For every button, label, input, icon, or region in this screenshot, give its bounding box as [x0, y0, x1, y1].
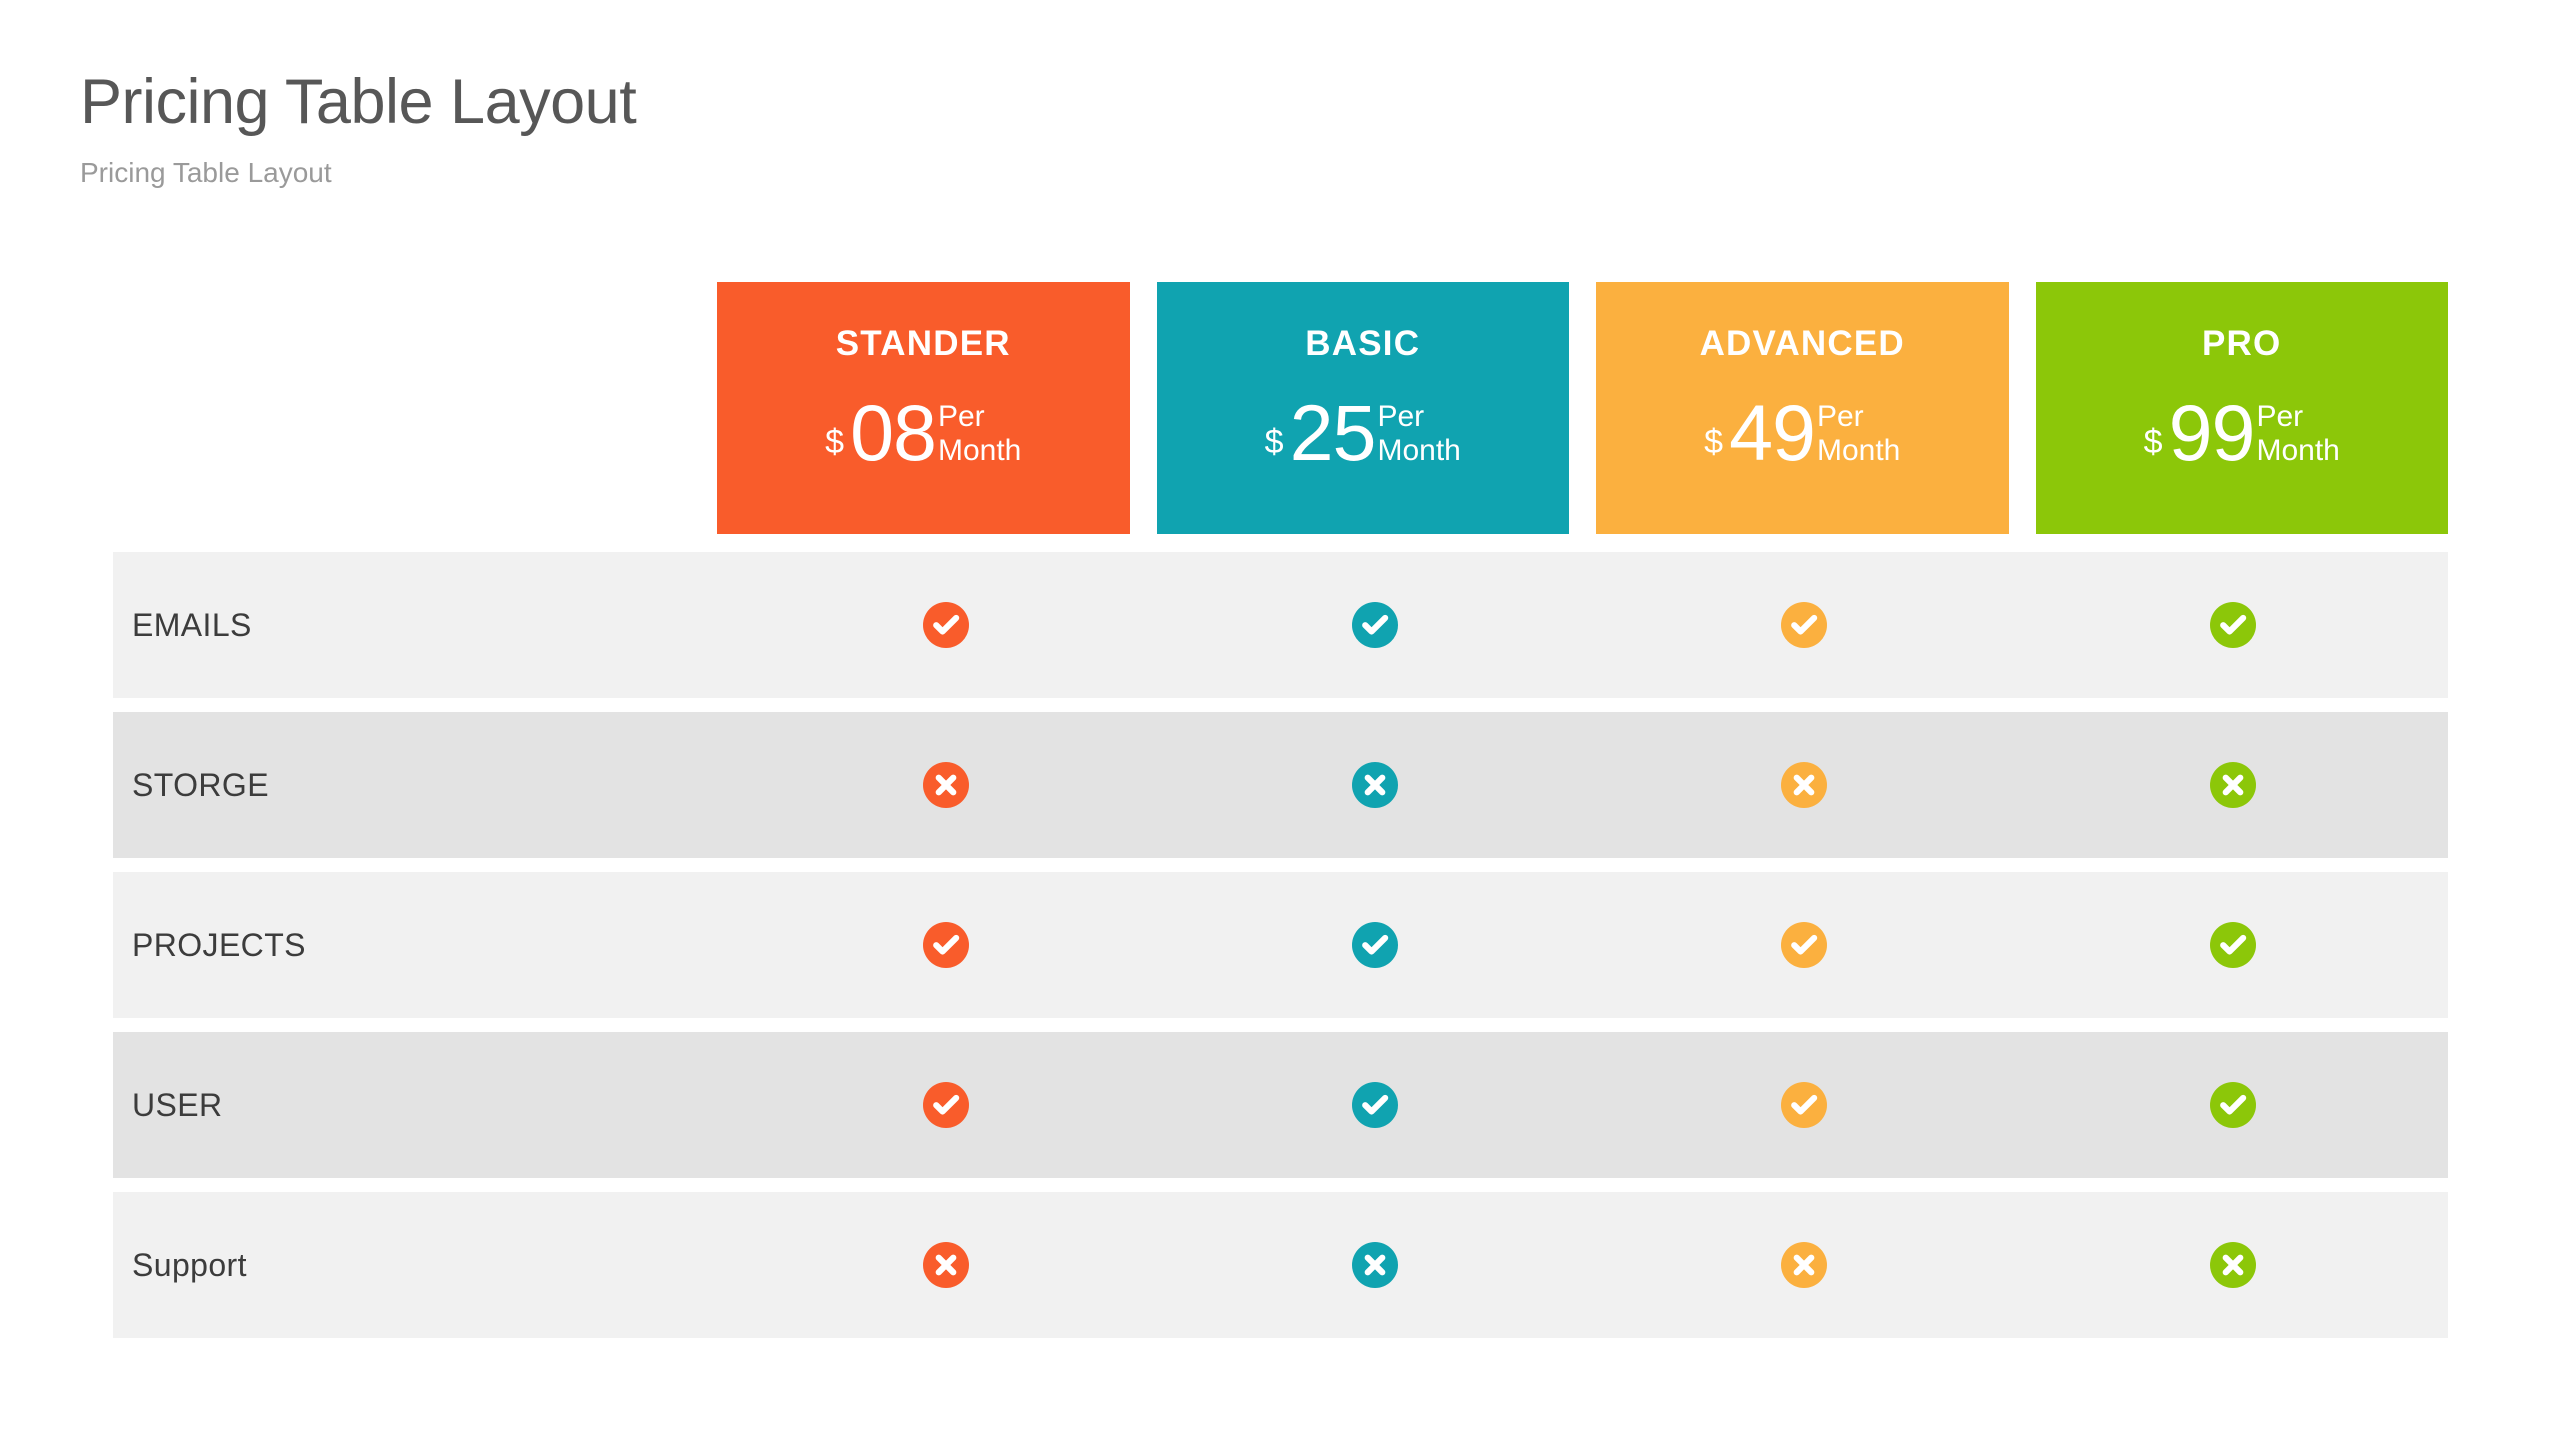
plan-price: $49PerMonth	[1704, 397, 1900, 470]
feature-cell-advanced	[1590, 1082, 2019, 1128]
feature-cell-stander	[731, 762, 1160, 808]
plan-currency-symbol: $	[1265, 425, 1284, 470]
check-circle-icon	[1352, 602, 1398, 648]
check-circle-icon	[1781, 1082, 1827, 1128]
cross-circle-icon	[2210, 1242, 2256, 1288]
cross-circle-icon	[2210, 762, 2256, 808]
feature-cell-advanced	[1590, 602, 2019, 648]
plan-card-stander[interactable]: STANDER$08PerMonth	[717, 282, 1130, 534]
feature-cell-advanced	[1590, 922, 2019, 968]
plan-period-per: Per	[2256, 400, 2339, 434]
check-circle-icon	[1352, 922, 1398, 968]
table-row: Support	[113, 1192, 2448, 1338]
plan-price: $25PerMonth	[1265, 397, 1461, 470]
page-subtitle: Pricing Table Layout	[80, 158, 1680, 189]
plan-period: PerMonth	[1817, 400, 1900, 470]
feature-cell-group	[731, 762, 2448, 808]
feature-label: PROJECTS	[113, 927, 731, 964]
plan-amount: 08	[850, 397, 936, 470]
plan-period-month: Month	[938, 434, 1021, 468]
check-circle-icon	[1781, 602, 1827, 648]
plan-period-per: Per	[1377, 400, 1460, 434]
plan-period-month: Month	[1377, 434, 1460, 468]
table-row: PROJECTS	[113, 872, 2448, 1018]
feature-cell-basic	[1160, 1242, 1589, 1288]
feature-label: Support	[113, 1247, 731, 1284]
feature-cell-basic	[1160, 762, 1589, 808]
feature-cell-advanced	[1590, 762, 2019, 808]
cross-circle-icon	[923, 1242, 969, 1288]
plan-card-basic[interactable]: BASIC$25PerMonth	[1157, 282, 1570, 534]
feature-cell-basic	[1160, 602, 1589, 648]
feature-cell-stander	[731, 1082, 1160, 1128]
check-circle-icon	[923, 922, 969, 968]
plan-period: PerMonth	[1377, 400, 1460, 470]
feature-label: USER	[113, 1087, 731, 1124]
plan-period-per: Per	[938, 400, 1021, 434]
cross-circle-icon	[1781, 762, 1827, 808]
plan-currency-symbol: $	[2144, 425, 2163, 470]
plan-period-month: Month	[2256, 434, 2339, 468]
check-circle-icon	[1352, 1082, 1398, 1128]
plan-amount: 49	[1729, 397, 1815, 470]
feature-cell-group	[731, 1242, 2448, 1288]
plan-period: PerMonth	[2256, 400, 2339, 470]
check-circle-icon	[923, 1082, 969, 1128]
plan-currency-symbol: $	[825, 425, 844, 470]
page-title: Pricing Table Layout	[80, 68, 1680, 136]
plan-header-row: STANDER$08PerMonthBASIC$25PerMonthADVANC…	[717, 282, 2448, 534]
feature-cell-group	[731, 922, 2448, 968]
feature-cell-basic	[1160, 1082, 1589, 1128]
feature-cell-advanced	[1590, 1242, 2019, 1288]
cross-circle-icon	[1781, 1242, 1827, 1288]
feature-cell-stander	[731, 922, 1160, 968]
feature-cell-pro	[2019, 1082, 2448, 1128]
feature-cell-stander	[731, 1242, 1160, 1288]
feature-cell-pro	[2019, 602, 2448, 648]
plan-price: $08PerMonth	[825, 397, 1021, 470]
plan-name: ADVANCED	[1700, 326, 1905, 361]
check-circle-icon	[2210, 602, 2256, 648]
plan-period-per: Per	[1817, 400, 1900, 434]
table-row: EMAILS	[113, 552, 2448, 698]
check-circle-icon	[2210, 922, 2256, 968]
cross-circle-icon	[923, 762, 969, 808]
plan-card-advanced[interactable]: ADVANCED$49PerMonth	[1596, 282, 2009, 534]
feature-comparison-table: EMAILSSTORGEPROJECTSUSERSupport	[113, 552, 2448, 1338]
feature-cell-group	[731, 1082, 2448, 1128]
check-circle-icon	[1781, 922, 1827, 968]
plan-name: STANDER	[836, 326, 1011, 361]
feature-cell-basic	[1160, 922, 1589, 968]
feature-cell-pro	[2019, 922, 2448, 968]
feature-cell-pro	[2019, 1242, 2448, 1288]
feature-label: STORGE	[113, 767, 731, 804]
feature-cell-pro	[2019, 762, 2448, 808]
feature-cell-stander	[731, 602, 1160, 648]
cross-circle-icon	[1352, 1242, 1398, 1288]
heading-block: Pricing Table Layout Pricing Table Layou…	[80, 68, 1680, 189]
plan-amount: 25	[1290, 397, 1376, 470]
plan-name: PRO	[2202, 326, 2281, 361]
feature-cell-group	[731, 602, 2448, 648]
plan-card-pro[interactable]: PRO$99PerMonth	[2036, 282, 2449, 534]
table-row: USER	[113, 1032, 2448, 1178]
plan-period: PerMonth	[938, 400, 1021, 470]
check-circle-icon	[923, 602, 969, 648]
plan-period-month: Month	[1817, 434, 1900, 468]
pricing-table-page: Pricing Table Layout Pricing Table Layou…	[0, 0, 2560, 1440]
table-row: STORGE	[113, 712, 2448, 858]
plan-name: BASIC	[1305, 326, 1420, 361]
cross-circle-icon	[1352, 762, 1398, 808]
feature-label: EMAILS	[113, 607, 731, 644]
plan-currency-symbol: $	[1704, 425, 1723, 470]
plan-amount: 99	[2169, 397, 2255, 470]
check-circle-icon	[2210, 1082, 2256, 1128]
plan-price: $99PerMonth	[2144, 397, 2340, 470]
